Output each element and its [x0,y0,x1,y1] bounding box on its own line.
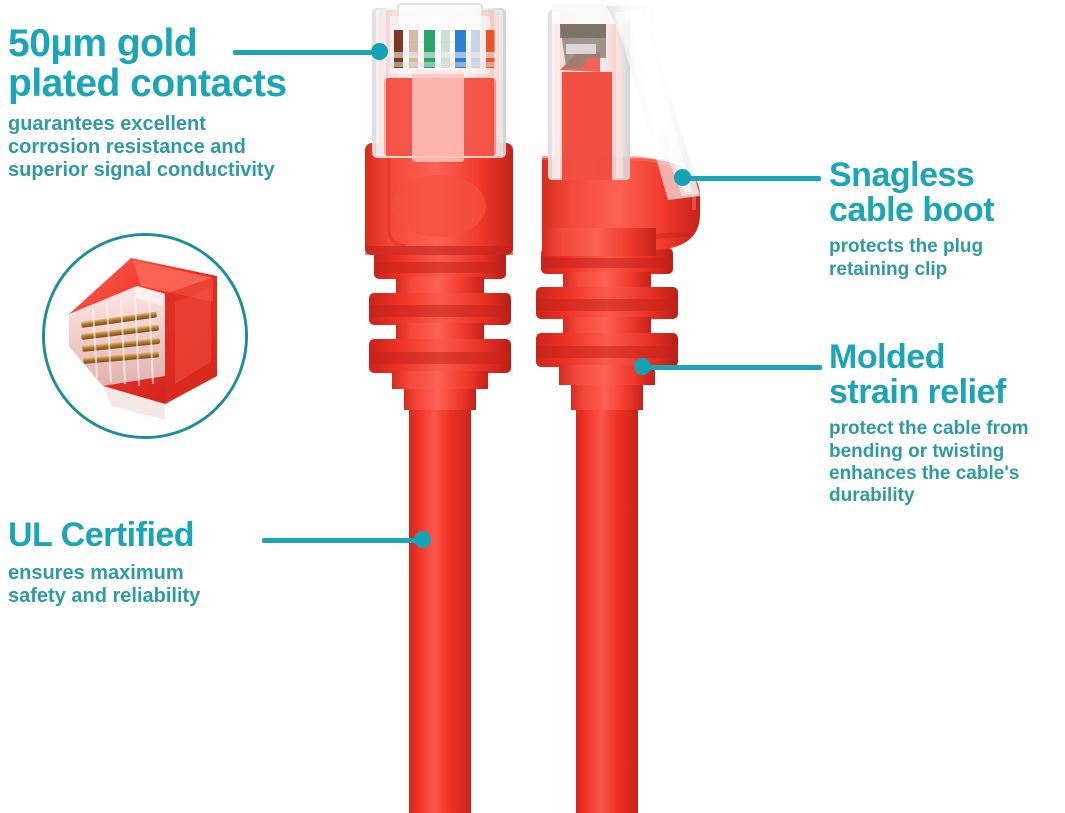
callout-snagless-cable-boot: Snagless cable boot protects the plug re… [829,158,1065,281]
callout-gold-plated-contacts: 50µm gold plated contacts guarantees exc… [8,24,338,183]
right-connector-assembly [536,4,700,813]
left-rj45-plug [372,4,506,162]
rj45-contacts-closeup-inset [42,233,248,439]
callout-body: ensures maximum safety and reliability [8,562,308,609]
leader-line-strain [650,365,822,370]
callout-title: 50µm gold plated contacts [8,24,338,104]
callout-molded-strain-relief: Molded strain relief protect the cable f… [829,340,1065,507]
leader-line-snagless [688,176,821,181]
callout-body: protect the cable from bending or twisti… [829,418,1065,507]
leader-dot-strain [634,358,651,375]
left-strain-relief [369,251,511,389]
callout-body: guarantees excellent corrosion resistanc… [8,113,338,183]
callout-title: Molded strain relief [829,340,1065,409]
infographic-canvas: 50µm gold plated contacts guarantees exc… [0,0,1065,813]
leader-dot-ul [414,531,431,548]
callout-body: protects the plug retaining clip [829,236,1065,280]
callout-title: UL Certified [8,518,308,553]
leader-dot-snagless [674,169,691,186]
closeup-artwork [45,236,245,436]
callout-title: Snagless cable boot [829,158,1065,227]
left-plug-contacts [388,16,496,74]
callout-ul-certified: UL Certified ensures maximum safety and … [8,518,308,608]
leader-dot-gold [371,43,388,60]
left-connector-assembly [365,4,513,813]
